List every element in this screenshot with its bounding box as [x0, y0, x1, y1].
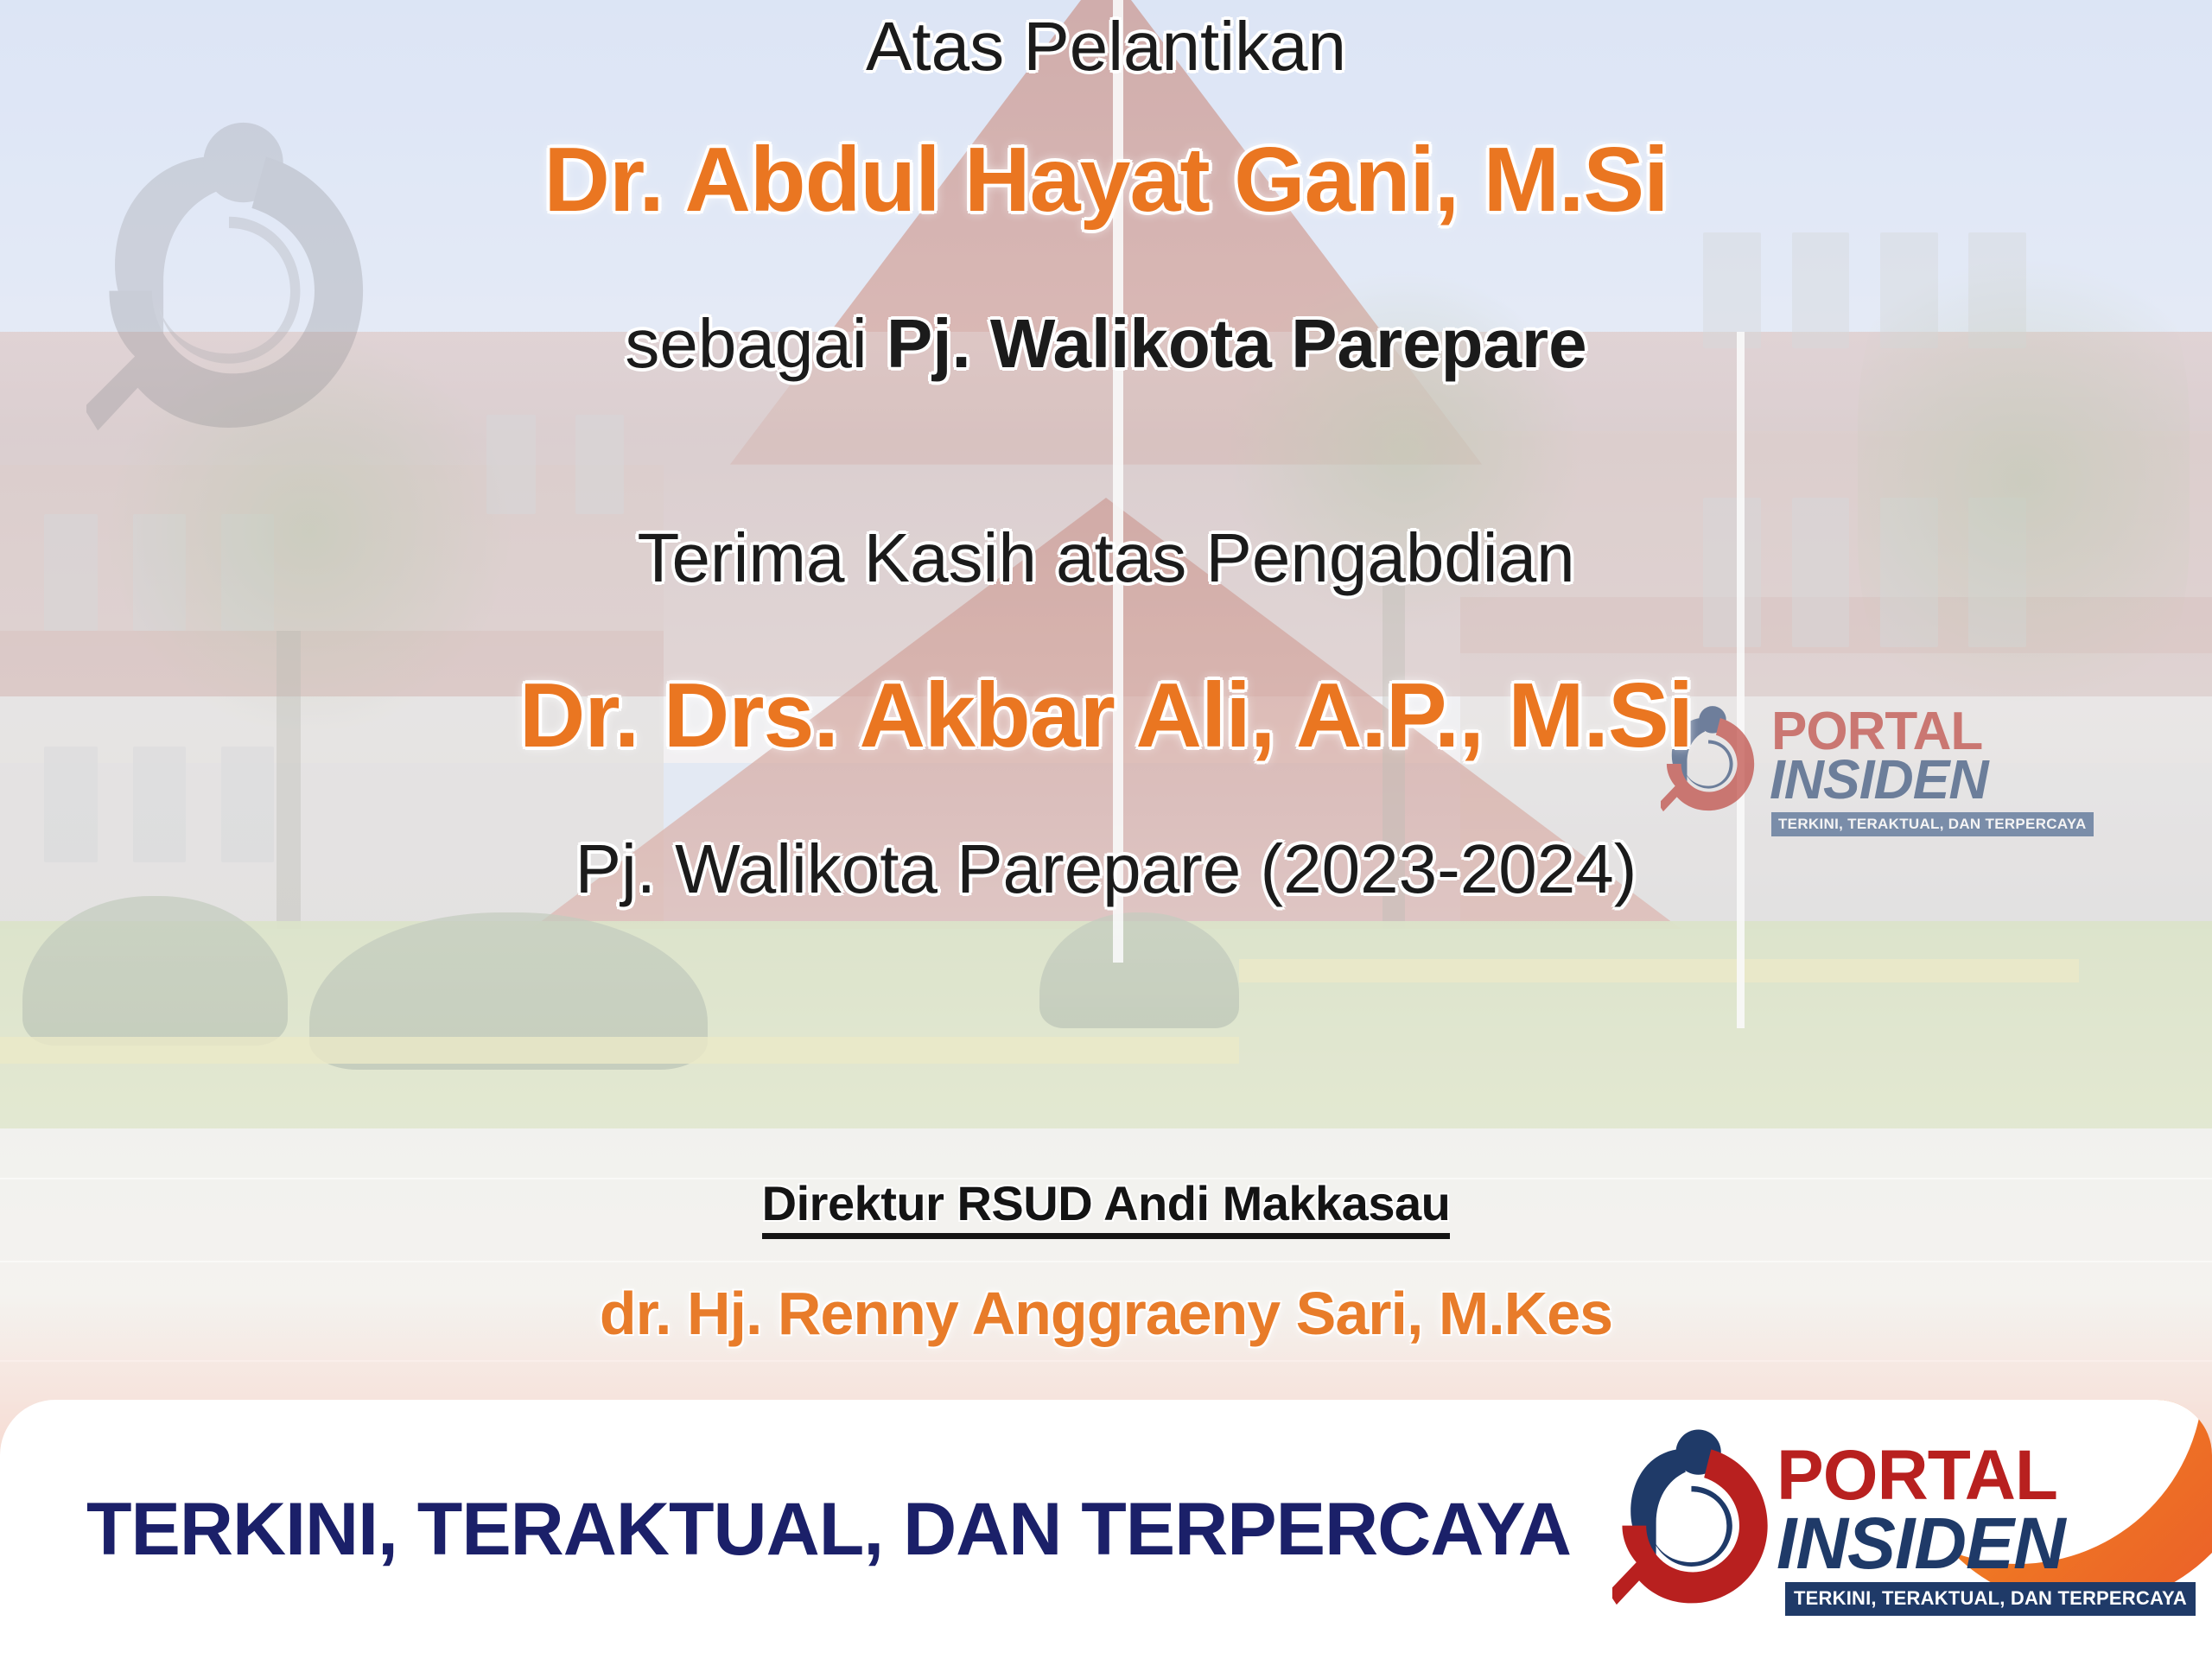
- line-role-appointed: sebagai Pj. Walikota Parepare: [0, 304, 2212, 384]
- magnifier-person-logo-icon: [1612, 1424, 1782, 1636]
- portal-insiden-logo[interactable]: PORTAL INSIDEN TERKINI, TERAKTUAL, DAN T…: [1612, 1424, 2196, 1636]
- poster-canvas: PORTAL INSIDEN TERKINI, TERAKTUAL, DAN T…: [0, 0, 2212, 1659]
- signature-name: dr. Hj. Renny Anggraeny Sari, M.Kes: [0, 1279, 2212, 1348]
- line-name-appointed: Dr. Abdul Hayat Gani, M.Si: [0, 128, 2212, 232]
- line-name-outgoing: Dr. Drs. Akbar Ali, A.P., M.Si: [0, 664, 2212, 768]
- line-role-outgoing: Pj. Walikota Parepare (2023-2024): [0, 829, 2212, 909]
- role-appointed-prefix: sebagai: [625, 305, 886, 382]
- banner-tagline: TERKINI, TERAKTUAL, DAN TERPERCAYA: [86, 1487, 1571, 1573]
- logo-word-insiden: INSIDEN: [1777, 1510, 2196, 1579]
- logo-strap: TERKINI, TERAKTUAL, DAN TERPERCAYA: [1785, 1582, 2196, 1616]
- bottom-banner: TERKINI, TERAKTUAL, DAN TERPERCAYA PORTA…: [0, 1400, 2212, 1659]
- signature-role: Direktur RSUD Andi Makkasau: [762, 1175, 1451, 1239]
- line-intro: Atas Pelantikan: [0, 7, 2212, 86]
- signature-block: Direktur RSUD Andi Makkasau dr. Hj. Renn…: [0, 1175, 2212, 1348]
- logo-word-portal: PORTAL: [1777, 1443, 2196, 1508]
- role-appointed-bold: Pj. Walikota Parepare: [887, 305, 1587, 382]
- line-thanks: Terima Kasih atas Pengabdian: [0, 518, 2212, 598]
- logo-wordmark: PORTAL INSIDEN TERKINI, TERAKTUAL, DAN T…: [1777, 1443, 2196, 1616]
